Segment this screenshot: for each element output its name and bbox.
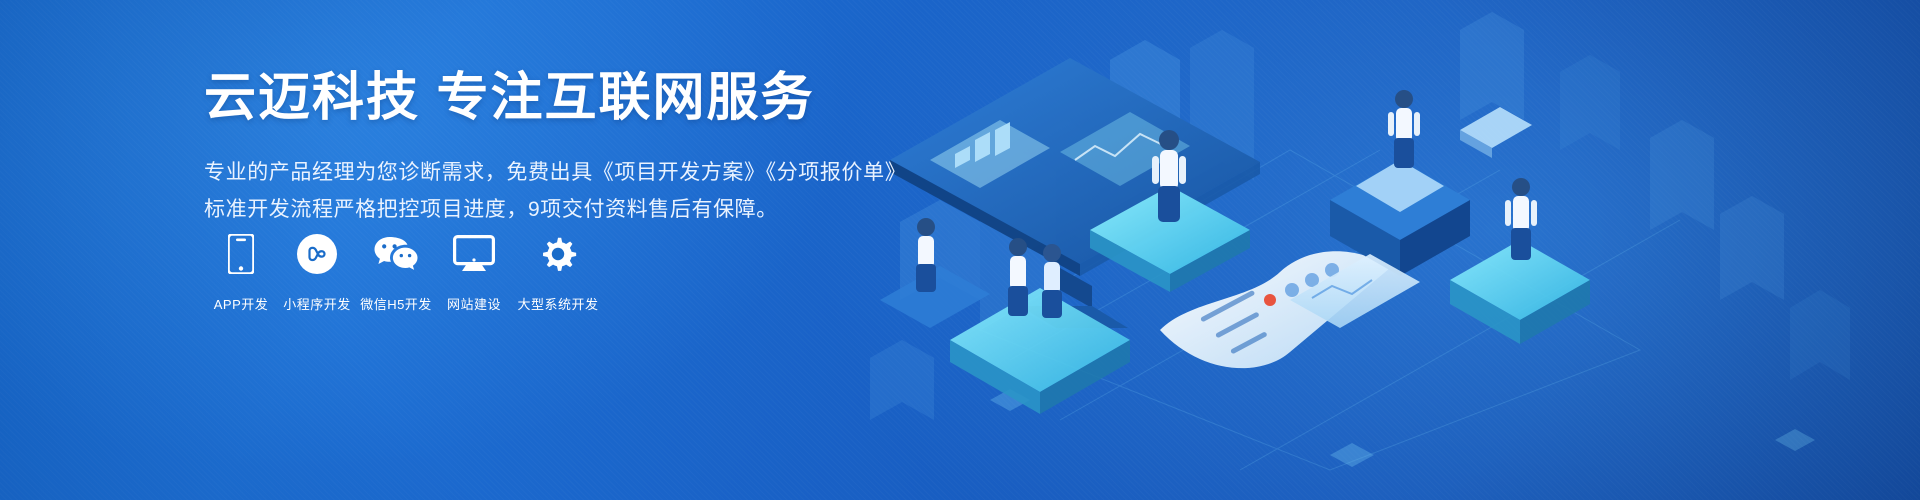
- service-item-wechat-h5[interactable]: 微信H5开发: [356, 228, 436, 313]
- person-center: [1152, 130, 1186, 222]
- podium-far-right: [1450, 240, 1590, 344]
- floating-card: [1460, 107, 1532, 158]
- service-label-large-system: 大型系统开发: [517, 294, 598, 313]
- mobile-phone-icon: [228, 228, 254, 280]
- hero-banner: 云迈科技 专注互联网服务 专业的产品经理为您诊断需求，免费出具《项目开发方案》《…: [0, 0, 1920, 500]
- dashboard-screen: [890, 58, 1260, 328]
- service-label-miniprogram: 小程序开发: [283, 294, 351, 313]
- mini-program-icon: [297, 228, 337, 280]
- person-right: [1388, 90, 1420, 168]
- service-item-miniprogram[interactable]: 小程序开发: [278, 228, 356, 313]
- report-sheet: [1160, 251, 1390, 368]
- podium-left-lower: [950, 288, 1130, 414]
- service-label-app: APP开发: [214, 294, 269, 313]
- pedestal-right: [1330, 160, 1470, 276]
- service-label-website: 网站建设: [447, 294, 501, 313]
- wechat-icon: [373, 228, 419, 280]
- subtitle-line-1: 专业的产品经理为您诊断需求，免费出具《项目开发方案》《分项报价单》: [204, 155, 924, 192]
- podium-center: [1090, 186, 1250, 292]
- page-title: 云迈科技 专注互联网服务: [204, 68, 924, 129]
- person-left-b: [1042, 244, 1062, 318]
- hero-subtitle: 专业的产品经理为您诊断需求，免费出具《项目开发方案》《分项报价单》 标准开发流程…: [204, 155, 924, 229]
- service-label-wechat-h5: 微信H5开发: [360, 294, 432, 313]
- monitor-icon: [453, 228, 495, 280]
- person-left-a: [1008, 238, 1028, 316]
- person-desk: [880, 218, 990, 328]
- subtitle-line-2: 标准开发流程严格把控项目进度，9项交付资料售后有保障。: [204, 192, 924, 229]
- service-item-large-system[interactable]: 大型系统开发: [512, 228, 604, 313]
- service-list: APP开发 小程序开发 微信: [204, 228, 604, 313]
- person-far-right: [1505, 178, 1537, 260]
- glass-panel: [1290, 254, 1420, 328]
- gear-icon: [538, 228, 578, 280]
- service-item-app[interactable]: APP开发: [204, 228, 278, 313]
- hero-copy: 云迈科技 专注互联网服务 专业的产品经理为您诊断需求，免费出具《项目开发方案》《…: [204, 68, 924, 229]
- service-item-website[interactable]: 网站建设: [436, 228, 512, 313]
- isometric-illustration: [860, 0, 1920, 500]
